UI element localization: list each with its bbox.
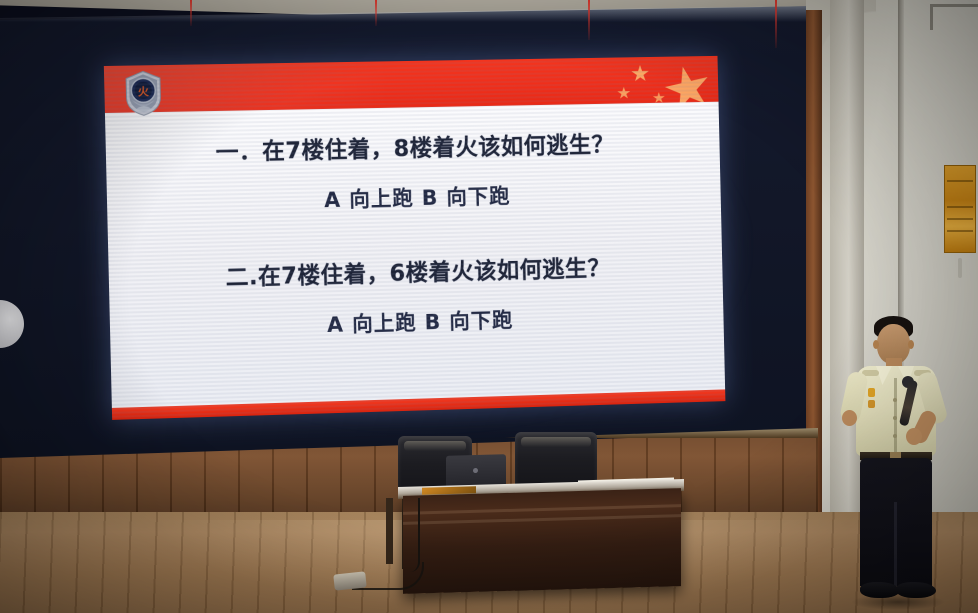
presenter [840,306,952,613]
ceiling-marker-icon [588,0,590,40]
power-adapter [333,571,366,590]
quiz-question-2: 二.在7楼住着，6楼着火该如何逃生？ A 向上跑 B 向下跑 [108,246,723,345]
podium-desk [403,488,681,594]
wall-hook-icon [958,258,962,278]
ceiling-marker-icon [375,0,377,26]
quiz-question-1: 一．在7楼住着，8楼着火该如何逃生？ A 向上跑 B 向下跑 [105,123,720,219]
chair-highlight [404,441,466,451]
ceiling-marker-icon [190,0,192,26]
presenter-right-hand [906,428,922,445]
laptop [446,454,506,488]
uniform-insignia [868,400,875,408]
question-1-options: A 向上跑 B 向下跑 [107,176,721,219]
uniform-insignia [868,388,875,397]
ceiling-marker-icon [775,0,777,48]
wall-rail-drop [930,4,933,30]
wall-rail [930,4,978,7]
projected-slide: 火 一．在7楼住着，8楼着火该如何逃生？ A 向上跑 B 向下跑 二.在7楼住着… [104,56,726,420]
badge-glyph: 火 [138,85,150,98]
shirt-button [893,398,897,402]
desk-trim [403,504,681,515]
question-2-text: 二.在7楼住着，6楼着火该如何逃生？ [108,246,722,295]
shirt-placket [894,378,897,452]
slide-content-area: 一．在7楼住着，8楼着火该如何逃生？ A 向上跑 B 向下跑 二.在7楼住着，6… [105,102,725,408]
screenshot-scene: 火 一．在7楼住着，8楼着火该如何逃生？ A 向上跑 B 向下跑 二.在7楼住着… [0,0,978,613]
presenter-ear [908,340,914,349]
question-1-text: 一．在7楼住着，8楼着火该如何逃生？ [105,123,719,169]
wall-decor-panel [944,165,976,253]
desk-trim [403,514,681,525]
laptop-logo-icon [473,468,478,473]
shirt-button [893,434,897,438]
fire-service-badge-icon: 火 [122,69,165,118]
presenter-ear [873,340,879,349]
presenter-shoe [860,582,900,598]
trouser-seam [894,502,897,586]
presenter-shoe [896,582,936,598]
shirt-button [893,416,897,420]
presenter-left-hand [842,410,857,426]
chair-leg [386,498,393,564]
chair-highlight [521,437,591,447]
question-2-options: A 向上跑 B 向下跑 [110,299,724,345]
power-cable [408,498,420,572]
